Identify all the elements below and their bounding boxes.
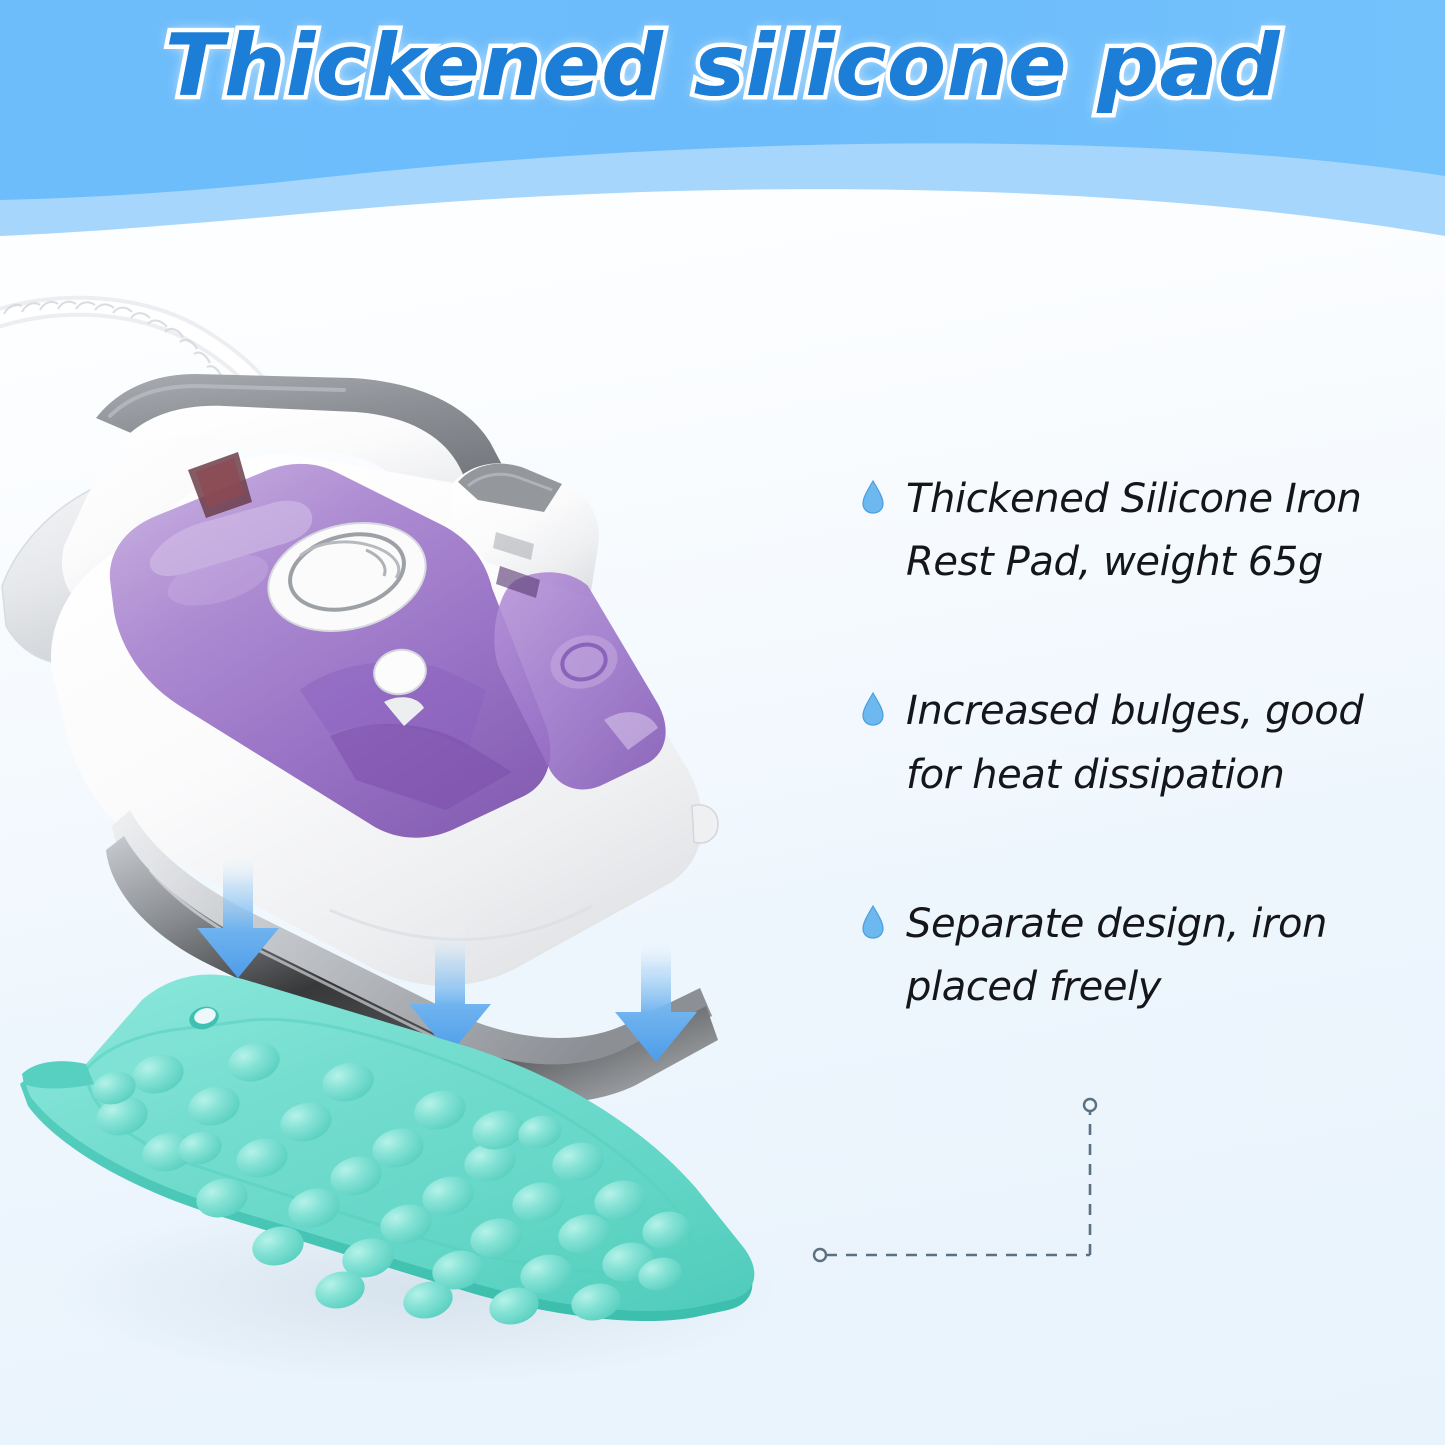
header-banner: Thickened silicone pad Thickened silicon…: [0, 0, 1445, 250]
feature-list: Thickened Silicone Iron Rest Pad, weight…: [862, 468, 1432, 1105]
water-drop-icon: [862, 692, 884, 726]
feature-text: Increased bulges, good for heat dissipat…: [906, 680, 1426, 806]
feature-item: Increased bulges, good for heat dissipat…: [862, 680, 1432, 806]
infographic-page: Thickened silicone pad Thickened silicon…: [0, 0, 1445, 1445]
dimension-dashed-line: [790, 1085, 1140, 1285]
callout-endpoint: [814, 1249, 826, 1261]
iron-side-trigger: [692, 805, 718, 843]
feature-text: Thickened Silicone Iron Rest Pad, weight…: [906, 468, 1426, 594]
page-title-outline: Thickened silicone pad: [0, 14, 1445, 119]
water-drop-icon: [862, 480, 884, 514]
feature-text: Separate design, iron placed freely: [906, 893, 1426, 1019]
callout-endpoint: [1084, 1099, 1096, 1111]
product-illustration: [0, 250, 900, 1445]
water-drop-icon: [862, 905, 884, 939]
feature-item: Separate design, iron placed freely: [862, 893, 1432, 1019]
pad-tail: [22, 1061, 94, 1088]
steam-iron: [2, 374, 718, 1103]
feature-item: Thickened Silicone Iron Rest Pad, weight…: [862, 468, 1432, 594]
